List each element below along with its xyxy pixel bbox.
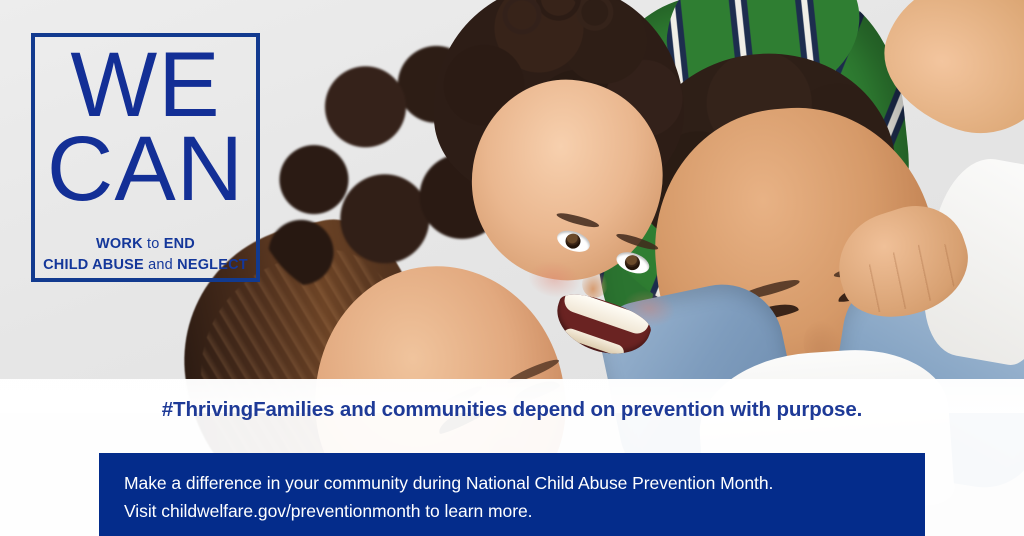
child-brow-left	[556, 211, 601, 230]
child-eye-left	[554, 227, 592, 256]
logo-tagline-and: and	[148, 257, 173, 273]
logo-tagline-child-abuse: CHILD ABUSE	[43, 257, 144, 273]
logo-tagline-neglect: NEGLECT	[177, 257, 248, 273]
child-hair-wisps	[496, 0, 626, 36]
headline-text: #ThrivingFamilies and communities depend…	[0, 398, 1024, 422]
cta-panel: Make a difference in your community duri…	[99, 453, 925, 536]
cta-line-2: Visit childwelfare.gov/preventionmonth t…	[124, 498, 925, 526]
logo-tagline-to: to	[147, 236, 160, 252]
child-teeth-lower	[562, 326, 626, 357]
logo-word-we: WE	[70, 43, 220, 128]
child-eye-right	[614, 248, 652, 277]
logo-tagline-line2: CHILD ABUSE and NEGLECT	[43, 255, 248, 276]
we-can-logo: WE CAN WORK to END CHILD ABUSE and NEGLE…	[31, 33, 260, 282]
logo-tagline-line1: WORK to END	[43, 234, 248, 255]
logo-tagline: WORK to END CHILD ABUSE and NEGLECT	[43, 234, 248, 275]
logo-tagline-end: END	[164, 236, 195, 252]
cta-line-1: Make a difference in your community duri…	[124, 470, 925, 498]
prevention-month-banner: WE CAN WORK to END CHILD ABUSE and NEGLE…	[0, 0, 1024, 536]
logo-tagline-work: WORK	[96, 236, 143, 252]
child-brow-right	[615, 231, 659, 252]
child-figure	[410, 0, 740, 394]
logo-word-can: CAN	[47, 126, 244, 212]
